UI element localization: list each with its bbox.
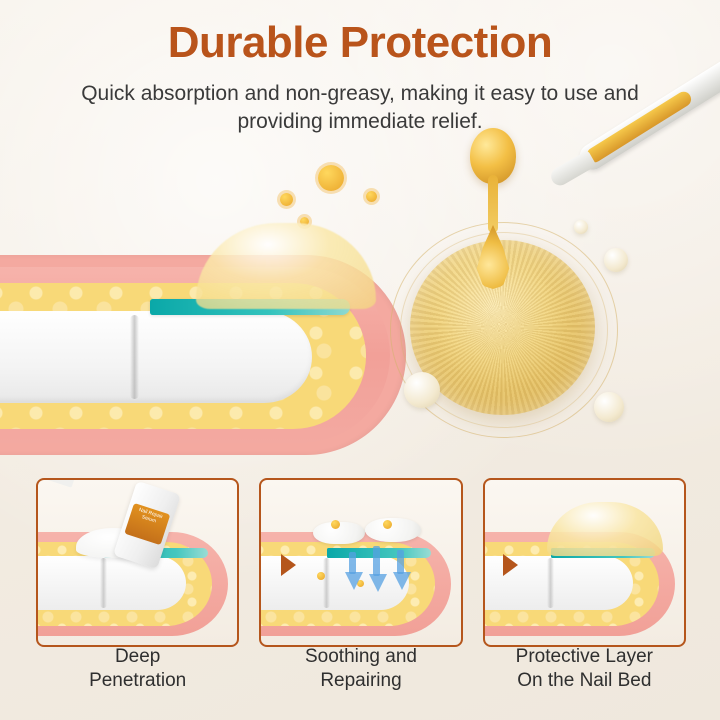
serum-droplet-dome (547, 502, 663, 556)
step-caption-2: Soothing and Repairing (259, 645, 462, 711)
nail-separation (547, 558, 554, 608)
product-tube-label: Nail Repair Serum (124, 503, 170, 545)
nail-plate (36, 556, 186, 610)
arrow-down-icon (397, 550, 404, 574)
germ-icon (318, 165, 344, 191)
nail-plate (0, 311, 312, 403)
nail-separation (100, 558, 107, 608)
steps-panel-row: Nail Repair Serum (36, 478, 686, 648)
germ-icon (280, 193, 293, 206)
step-caption-3-line1: Protective Layer (483, 645, 686, 669)
germ-icon (366, 191, 377, 202)
step-caption-2-line2: Repairing (259, 669, 462, 693)
pearl-bead (604, 248, 628, 272)
nail-separation (323, 558, 330, 608)
pipette-tip (548, 150, 597, 189)
nail-separation (130, 315, 139, 399)
pearl-bead (404, 372, 440, 408)
oil-stream (488, 175, 498, 233)
pipette-icon (529, 33, 720, 257)
step-caption-3: Protective Layer On the Nail Bed (483, 645, 686, 711)
pipette-oil-fill (584, 89, 694, 165)
product-tube-cap (47, 478, 75, 488)
serum-dropper-illustration (426, 40, 720, 460)
step-caption-1: Deep Penetration (36, 645, 239, 711)
serum-droplet-dome (196, 223, 376, 309)
arrow-down-icon (369, 574, 387, 592)
step-caption-3-line2: On the Nail Bed (483, 669, 686, 693)
step-caption-2-line1: Soothing and (259, 645, 462, 669)
steps-caption-row: Deep Penetration Soothing and Repairing … (36, 645, 686, 711)
arrow-down-icon (373, 546, 380, 576)
step-caption-1-line1: Deep (36, 645, 239, 669)
pearl-bead (594, 392, 624, 422)
arrow-down-icon (393, 572, 411, 590)
arrow-right-icon (281, 554, 296, 576)
step-panel-1[interactable]: Nail Repair Serum (36, 478, 239, 647)
arrow-right-icon (503, 554, 518, 576)
step-caption-1-line2: Penetration (36, 669, 239, 693)
arrow-down-icon (349, 552, 356, 574)
arrow-down-icon (345, 572, 363, 590)
promo-image: Durable Protection Quick absorption and … (0, 0, 720, 720)
serum-blob (365, 518, 421, 542)
